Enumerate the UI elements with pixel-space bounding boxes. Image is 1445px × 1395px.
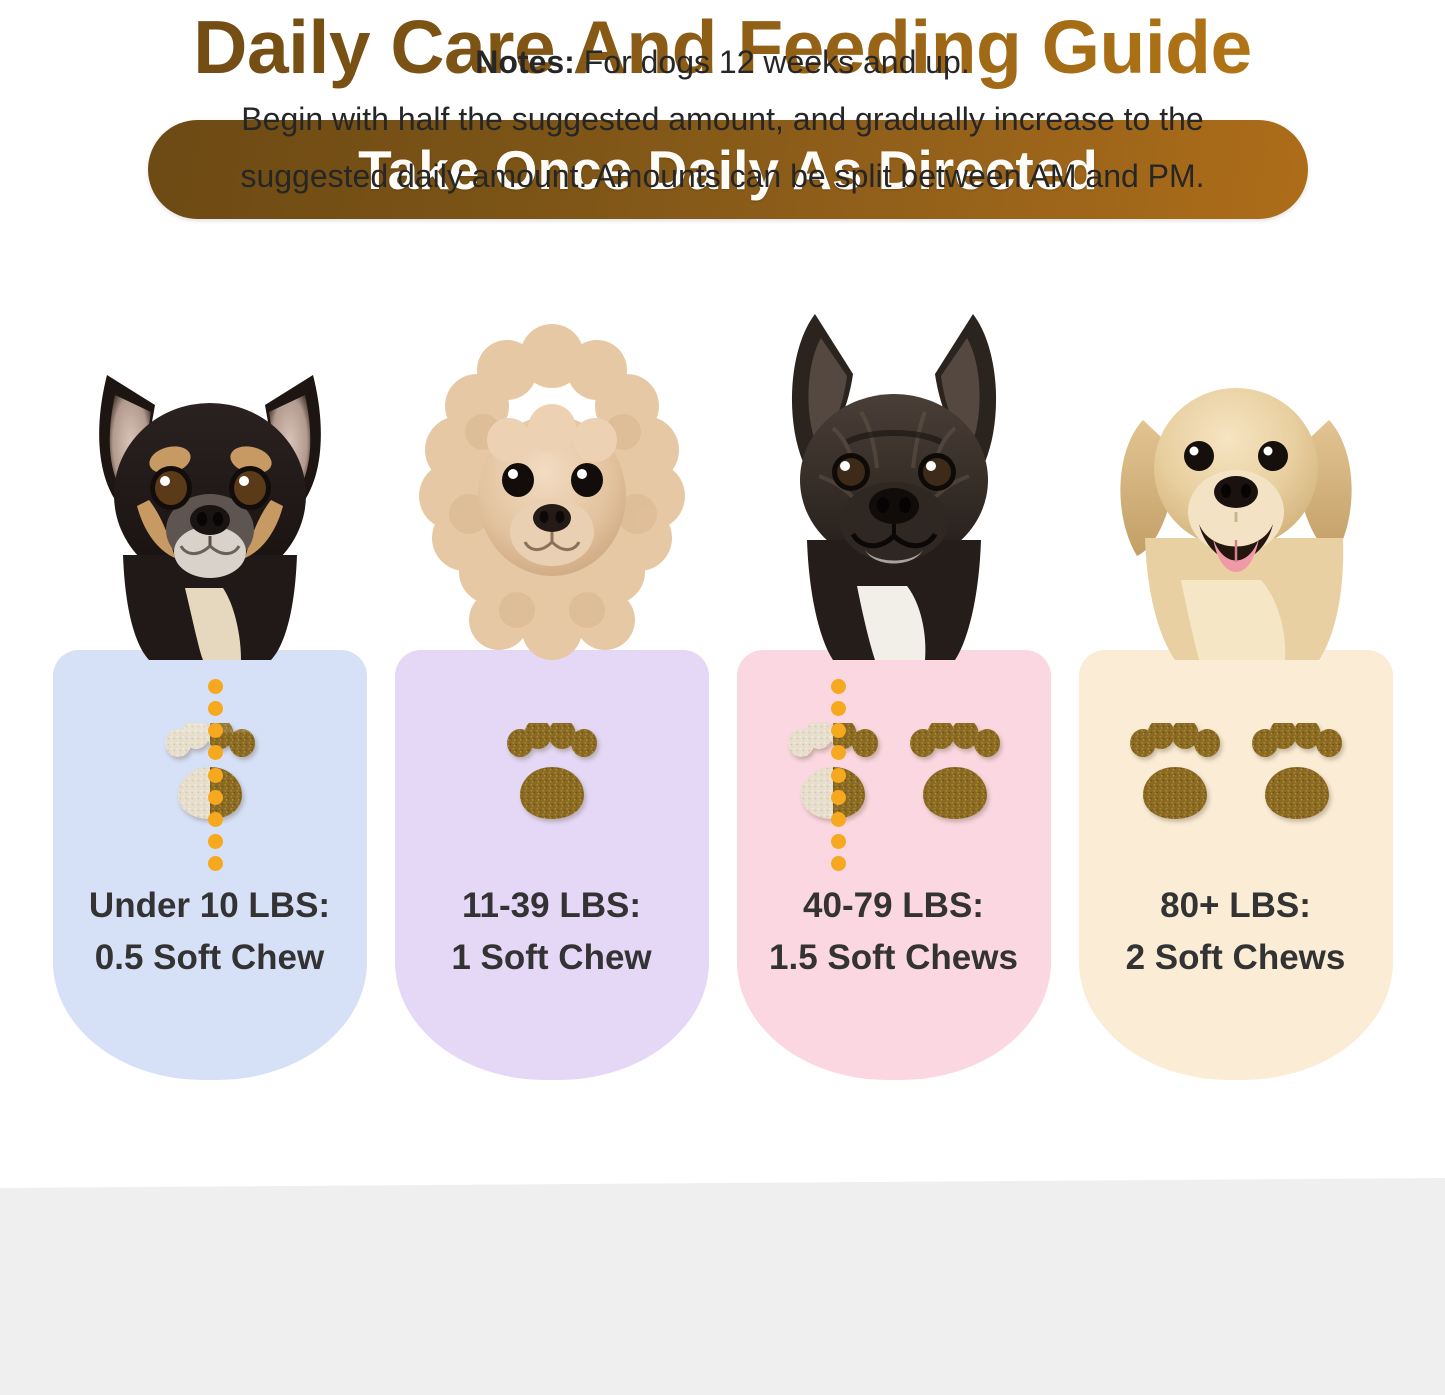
dose-label: 1.5 Soft Chews <box>769 932 1018 984</box>
dosage-card-11-39-lbs: 11-39 LBS: 1 Soft Chew <box>387 300 717 1090</box>
chew-illustration-11-39-lbs <box>395 680 709 870</box>
dosage-card-40-79-lbs: 40-79 LBS: 1.5 Soft Chews <box>729 300 1059 1090</box>
half-dose-divider <box>208 679 224 871</box>
divider-dot <box>831 701 846 716</box>
divider-dot <box>208 768 223 783</box>
weight-range-label: 11-39 LBS: <box>462 880 641 932</box>
chew-full <box>903 723 1007 827</box>
dog-photo-poodle <box>387 300 717 660</box>
divider-dot <box>208 856 223 871</box>
dose-label: 0.5 Soft Chew <box>95 932 324 984</box>
weight-range-label: Under 10 LBS: <box>89 880 330 932</box>
divider-dot <box>208 834 223 849</box>
feeding-guide-page: Daily Care And Feeding Guide Take Once D… <box>0 0 1445 1395</box>
dosage-card-row: Under 10 LBS: 0.5 Soft Chew <box>0 300 1445 1090</box>
divider-dot <box>208 745 223 760</box>
divider-dot <box>208 790 223 805</box>
half-dose-divider <box>831 679 847 871</box>
chew-half <box>158 723 262 827</box>
weight-range-label: 80+ LBS: <box>1160 880 1311 932</box>
panel-content-40-79-lbs: 40-79 LBS: 1.5 Soft Chews <box>737 650 1051 1080</box>
panel-content-under-10-lbs: Under 10 LBS: 0.5 Soft Chew <box>53 650 367 1080</box>
chew-illustration-80-plus-lbs <box>1079 680 1393 870</box>
divider-dot <box>831 768 846 783</box>
dose-label: 1 Soft Chew <box>451 932 651 984</box>
dosage-card-80-plus-lbs: 80+ LBS: 2 Soft Chews <box>1071 300 1401 1090</box>
paw-chew-icon <box>1123 723 1227 827</box>
divider-dot <box>208 723 223 738</box>
chew-illustration-40-79-lbs <box>737 680 1051 870</box>
notes-line-3: suggested daily amount. Amounts can be s… <box>0 148 1445 205</box>
notes-line-2: Begin with half the suggested amount, an… <box>0 91 1445 148</box>
panel-content-80-plus-lbs: 80+ LBS: 2 Soft Chews <box>1079 650 1393 1080</box>
notes-line-1-rest: For dogs 12 weeks and up. <box>575 44 970 80</box>
chew-illustration-under-10-lbs <box>53 680 367 870</box>
paw-chew-icon <box>1245 723 1349 827</box>
chew-full <box>500 723 604 827</box>
divider-dot <box>831 812 846 827</box>
dog-photo-golden-retriever <box>1071 300 1401 660</box>
dog-photo-chihuahua <box>45 300 375 660</box>
notes-footer <box>0 1178 1445 1395</box>
divider-dot <box>831 679 846 694</box>
notes-label: Notes: <box>475 44 575 80</box>
divider-dot <box>831 790 846 805</box>
divider-dot <box>831 834 846 849</box>
paw-chew-icon <box>500 723 604 827</box>
divider-dot <box>208 679 223 694</box>
divider-dot <box>831 723 846 738</box>
panel-content-11-39-lbs: 11-39 LBS: 1 Soft Chew <box>395 650 709 1080</box>
divider-dot <box>208 701 223 716</box>
chew-full <box>1245 723 1349 827</box>
notes-text: Notes: For dogs 12 weeks and up. Begin w… <box>0 34 1445 205</box>
notes-line-1: Notes: For dogs 12 weeks and up. <box>0 34 1445 91</box>
chew-full <box>1123 723 1227 827</box>
chew-half <box>781 723 885 827</box>
dose-label: 2 Soft Chews <box>1126 932 1346 984</box>
dosage-card-under-10-lbs: Under 10 LBS: 0.5 Soft Chew <box>45 300 375 1090</box>
dog-photo-french-bulldog <box>729 300 1059 660</box>
divider-dot <box>831 856 846 871</box>
paw-chew-icon <box>903 723 1007 827</box>
divider-dot <box>831 745 846 760</box>
weight-range-label: 40-79 LBS: <box>803 880 984 932</box>
divider-dot <box>208 812 223 827</box>
